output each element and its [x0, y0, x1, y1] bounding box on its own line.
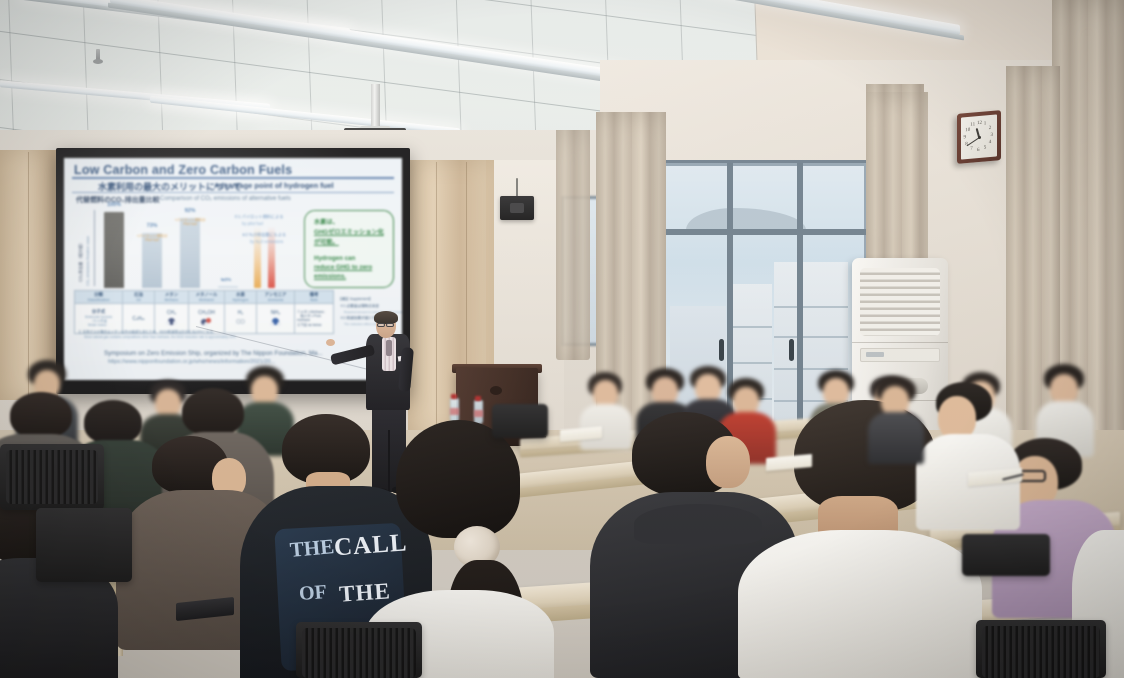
table-cell-methane-formula: CH₄	[155, 303, 189, 333]
clock-numeral: 10	[965, 128, 970, 133]
building-floor-line-5	[728, 326, 772, 328]
audience-head	[733, 387, 759, 415]
bar-methanol	[180, 218, 200, 288]
clock-numeral: 3	[991, 133, 994, 138]
table-cell-methane-head: メタン Methane	[155, 291, 189, 304]
clock-numeral: 5	[984, 145, 987, 150]
window-transom-bar	[663, 229, 873, 235]
clock-numeral: 1	[984, 122, 987, 127]
slide-subtitle-en: Advantage point of hydrogen fuel	[214, 181, 334, 190]
annotation-2-en: by N₂O emissions	[250, 239, 283, 245]
chair-front-left-2[interactable]	[36, 508, 132, 582]
bar-value-oil: 100%	[99, 202, 129, 208]
slide-caption-en: Comparison of CO₂ emissions of alternati…	[160, 196, 291, 202]
callout-jp-line3: が可能。	[314, 238, 339, 248]
bar-value-methanol: 92%	[175, 208, 205, 214]
building-floor-line-6	[728, 362, 772, 364]
table-cell-hydrogen-head: 水素 Hydrogen	[225, 291, 257, 304]
water-bottle-label-2	[474, 410, 483, 417]
audience-hair	[182, 388, 244, 436]
annotation-1-en: by pilot fuel	[242, 221, 263, 227]
water-bottle-label-1	[450, 408, 459, 415]
clock-numeral: 6	[977, 147, 980, 152]
chart-y-axis-label-en: CO₂ emissions Relative value	[86, 236, 90, 286]
table-cell-classification: 分類 Classification	[75, 291, 123, 304]
ac-seam-1	[852, 342, 948, 343]
clock-numeral: 4	[989, 140, 992, 145]
formula-hydrogen: H₂	[225, 310, 256, 316]
slide-footnote-en: Since natural gas contains compositions …	[84, 335, 236, 339]
chair-right-front-slats	[982, 626, 1100, 678]
molecule-model-hydrogen-icon	[235, 317, 246, 326]
table-cell-note-head: 備考 Note	[295, 291, 334, 304]
chair-back-row[interactable]	[492, 404, 548, 438]
clock-numeral: 11	[970, 123, 975, 128]
speaker-cone-icon	[510, 203, 524, 213]
ac-vent-grill	[860, 268, 940, 336]
wall-speaker	[500, 196, 534, 220]
clock-numeral: 7	[970, 146, 973, 151]
chart-y-axis	[94, 210, 95, 286]
formula-methanol: CH₃OH	[189, 310, 224, 316]
bar-note-methanol: +パイロット燃料分 Pilot fuel	[173, 218, 207, 226]
label-classification-en: Classification	[75, 298, 122, 302]
bar-value-hydrogen: ≒0%	[211, 277, 241, 283]
audience-head	[155, 389, 181, 417]
table-cell-oil-head: 石油 Oil	[123, 291, 155, 304]
chair-center-front-slats	[302, 628, 416, 678]
note-line-2: 純メタンPure methane	[297, 314, 333, 323]
col-note-en: Note	[295, 298, 333, 302]
projected-slide: Low Carbon and Zero Carbon Fuels 水素利用の最大…	[64, 158, 402, 380]
formula-methane: CH₄	[155, 310, 188, 316]
podium-emblem	[490, 386, 502, 395]
slide-source-line-2: https://www.nipponfoundation.or.jp/who/n…	[108, 359, 275, 365]
clock-face: 121234567891011	[961, 114, 997, 159]
shirt-text-line-4: THE	[335, 578, 395, 608]
table-cell-note-body: ①メタンMethane： 純メタンPure methane ②下記 as bel…	[295, 303, 334, 333]
audience-head	[593, 380, 618, 407]
molecule-model-methane-icon	[166, 317, 177, 326]
col-methanol-en: Methanol	[189, 298, 224, 302]
projector-mount-pole	[371, 84, 380, 130]
molecule-model-ammonia-icon	[270, 317, 281, 326]
audience-head	[706, 436, 750, 488]
table-cell-hydrogen-formula: H₂	[225, 303, 257, 333]
bar-oil	[104, 212, 124, 288]
audience-head	[251, 376, 278, 405]
shirt-text-line-2: CALL	[333, 530, 405, 563]
audience-head	[1050, 374, 1078, 404]
audience-head	[695, 374, 721, 402]
chart-y-axis-label-jp: CO₂排出量（相対値）	[78, 241, 84, 282]
table-cell-oil-formula: CₙHₘ	[123, 303, 155, 333]
audience-torso	[738, 530, 982, 678]
slide-title-rule	[72, 177, 394, 179]
clock-numeral: 8	[965, 142, 968, 147]
bar-note-methane: +パイロット燃料分 Pilot fuel	[135, 234, 169, 242]
audience-hair	[84, 400, 142, 444]
callout-en-line2: reduce GHG to zero	[314, 263, 372, 272]
table-cell-ammonia-formula: NH₃	[257, 303, 295, 333]
callout-jp-line1: 水素は、	[314, 218, 339, 228]
formula-oil: CₙHₘ	[123, 316, 154, 322]
col-oil-en: Oil	[123, 298, 154, 302]
clock-numeral: 9	[964, 135, 967, 140]
col-methane-en: Methane	[155, 298, 188, 302]
audience-head	[652, 377, 678, 405]
ac-brand-label	[866, 352, 884, 357]
table-cell-formula-label: 分子式 Molecular formula （モル質量 Molar mass）	[75, 303, 123, 333]
water-bottle-cap-1[interactable]	[451, 394, 457, 399]
speaker-cable	[516, 178, 518, 198]
callout-en-line3: emissions.	[314, 272, 346, 281]
bar-value-methane: 73%	[137, 223, 167, 229]
building-floor-line-1	[774, 306, 848, 308]
table-cell-methanol-head: メタノール Methanol	[189, 291, 225, 304]
col-ammonia-en: Ammonia	[257, 298, 294, 302]
audience-hair	[10, 392, 72, 438]
col-hydrogen-en: Hydrogen	[225, 298, 256, 302]
table-cell-ammonia-head: アンモニア Ammonia	[257, 291, 295, 304]
callout-jp-line2: GHGゼロエミッション化	[314, 228, 384, 238]
bar-hydrogen	[218, 286, 238, 288]
window-handle-left[interactable]	[719, 339, 724, 361]
sprinkler-head-1	[96, 49, 100, 61]
annotation-2-jp: ※2 N₂O排出量にもよる	[242, 232, 286, 238]
annotation-1-jp: ※1 パイロット燃料による	[234, 214, 283, 220]
presenter-glasses-left	[377, 323, 385, 327]
building-floor-line-2	[774, 336, 848, 338]
slide-subtitle-rule	[72, 192, 394, 193]
jacket-hood	[634, 504, 762, 544]
table-header-row: 分類 Classification 石油 Oil メタン Methane メタノ…	[75, 291, 334, 304]
presenter-hand	[326, 339, 335, 346]
formula-ammonia: NH₃	[257, 310, 294, 316]
curtain-far-left[interactable]	[556, 130, 590, 360]
presenter-trouser-seam	[388, 430, 390, 492]
window-handle-right[interactable]	[789, 339, 794, 361]
slide-source-line-1: Symposium on Zero Emission Ship, organiz…	[104, 350, 323, 357]
lecture-hall-scene: 121234567891011 Low Carbon and Zero Carb…	[0, 0, 1124, 678]
window-mullion-right	[797, 163, 803, 453]
clock-numeral: 2	[989, 126, 992, 131]
chair-front-left-slats	[6, 450, 98, 504]
water-bottle-cap-2[interactable]	[475, 396, 481, 401]
wood-panel-seam-3	[28, 152, 29, 398]
shirt-text-line-1: THE	[283, 534, 341, 564]
wood-panel-seam-1	[436, 162, 437, 436]
slide-title: Low Carbon and Zero Carbon Fuels	[74, 163, 292, 177]
presenter-glasses-right	[386, 323, 394, 327]
wall-clock: 121234567891011	[957, 110, 1001, 164]
callout-en-line1: Hydrogen can	[314, 254, 355, 263]
supplement-header: 【補足 Supplement】	[338, 297, 373, 302]
clock-numeral: 12	[977, 120, 982, 125]
note-line-3: ②下記 as below	[297, 323, 333, 327]
supplement-jp-1: ※1 必要量は現時点未定	[340, 304, 379, 309]
clock-center-pin	[978, 135, 981, 138]
distant-hill	[686, 208, 806, 230]
label-formula-en2: Molar mass）	[75, 323, 122, 327]
shirt-text-line-3: OF	[289, 580, 336, 606]
presenter-necktie	[386, 340, 392, 356]
chair-mid-right[interactable]	[962, 534, 1050, 576]
audience-torso	[868, 412, 924, 464]
molecule-model-methanol-icon	[201, 317, 212, 326]
